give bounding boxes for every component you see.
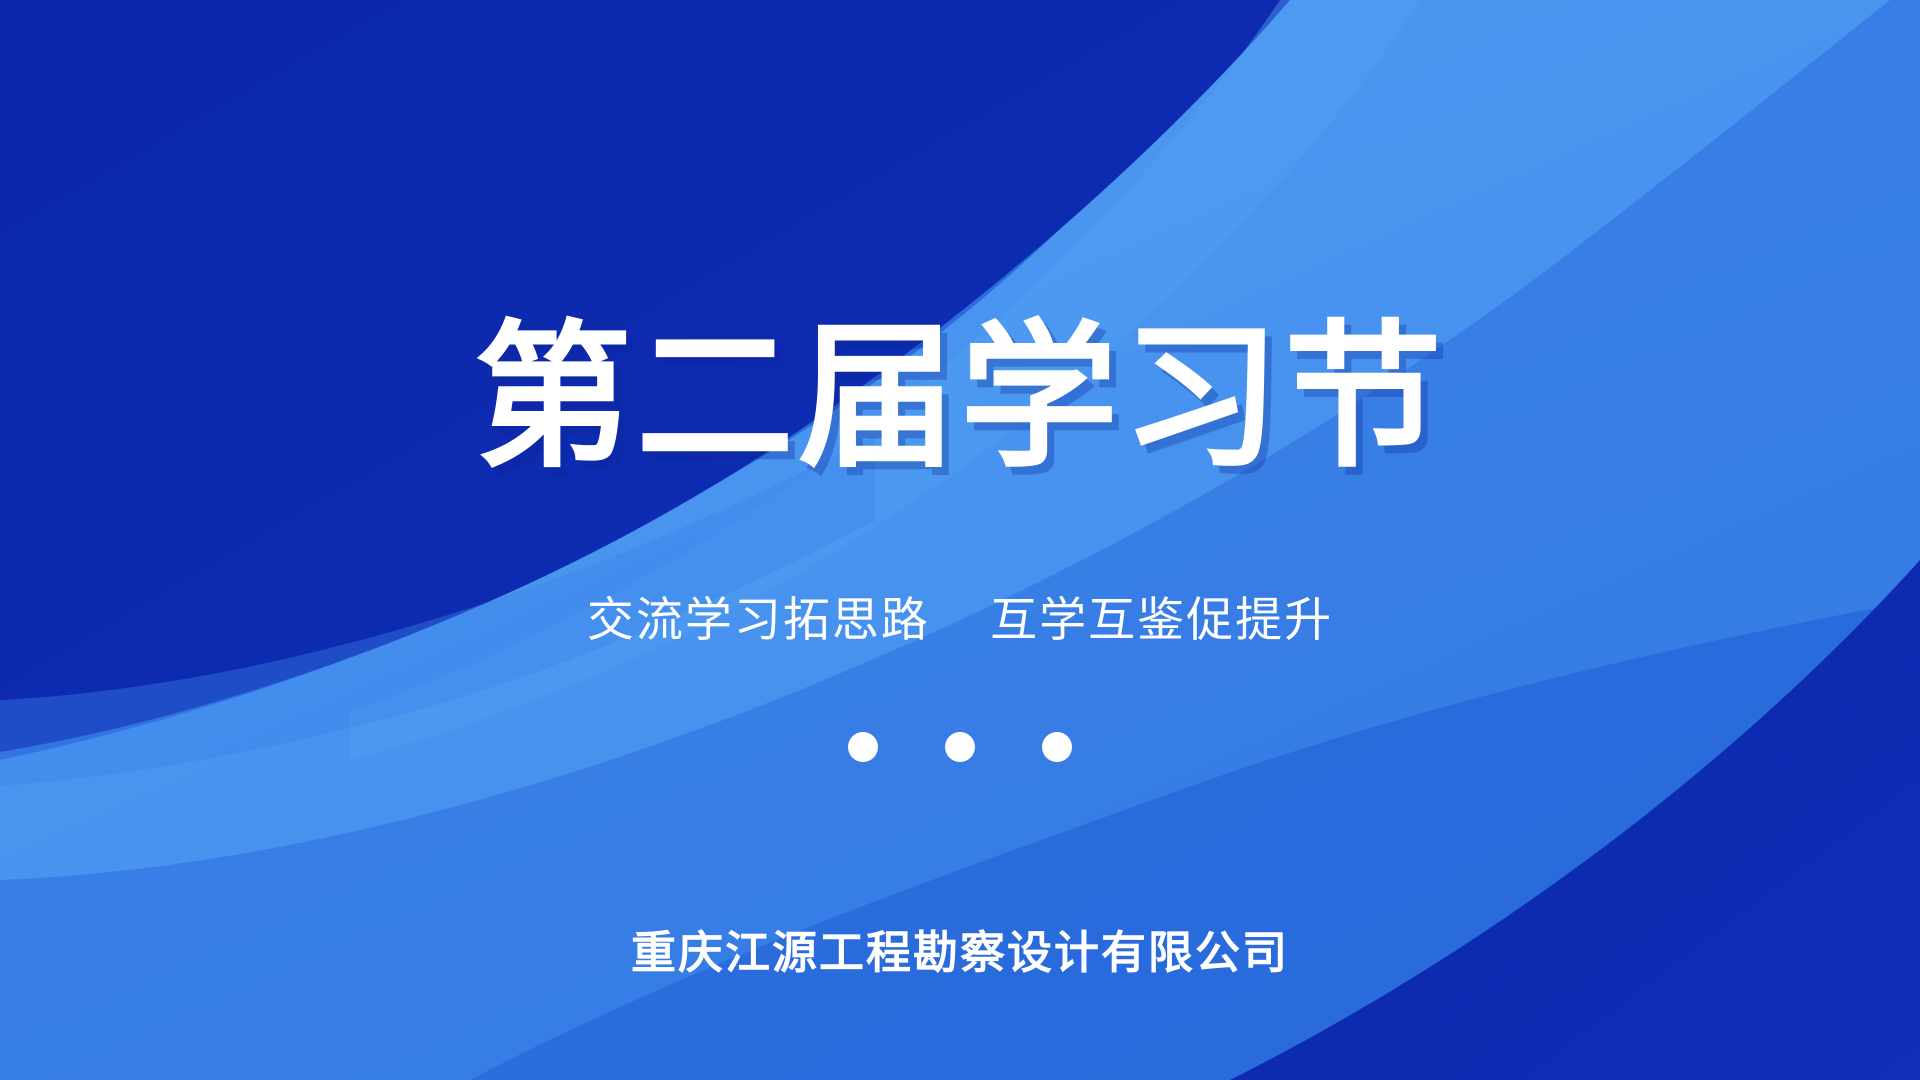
circle-dot-icon [848,732,878,762]
subtitle-text: 交流学习拓思路 互学互鉴促提升 [587,592,1333,648]
circle-dot-icon [1042,732,1072,762]
title-block: 第二届学习节 [0,318,1920,479]
decorative-dots [0,732,1920,762]
poster-content: 第二届学习节 交流学习拓思路 互学互鉴促提升 重庆江源工程勘察设计有限公司 [0,0,1920,1080]
company-name: 重庆江源工程勘察设计有限公司 [631,916,1289,981]
company-block: 重庆江源工程勘察设计有限公司 [0,916,1920,981]
page-title: 第二届学习节 [474,318,1446,479]
circle-dot-icon [945,732,975,762]
subtitle-block: 交流学习拓思路 互学互鉴促提升 [0,592,1920,648]
poster-canvas: 第二届学习节 交流学习拓思路 互学互鉴促提升 重庆江源工程勘察设计有限公司 [0,0,1920,1080]
